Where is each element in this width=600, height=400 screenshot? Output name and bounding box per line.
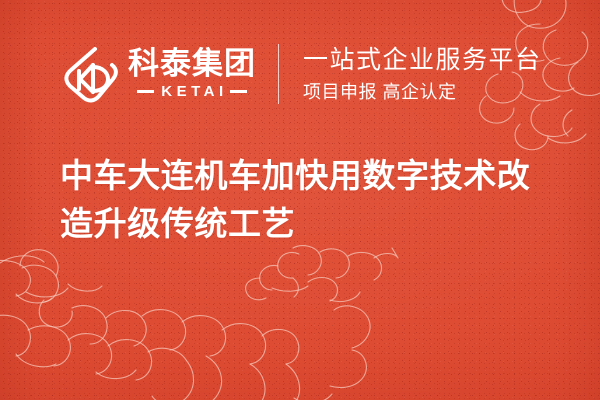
logo-dash-left-icon: [137, 90, 154, 93]
logo-wordmark: 科泰集团 KETAI: [128, 48, 256, 101]
brand-logo[interactable]: 科泰集团 KETAI: [62, 45, 256, 103]
page-title: 中车大连机车加快用数字技术改造升级传统工艺: [60, 152, 560, 248]
tagline-secondary: 项目申报 高企认定: [303, 82, 542, 103]
logo-name-cn: 科泰集团: [128, 48, 256, 81]
header-divider: [278, 44, 279, 104]
promo-banner: 科泰集团 KETAI 一站式企业服务平台 项目申报 高企认定 中车大连机车加快用…: [0, 0, 600, 400]
logo-name-en-text: KETAI: [161, 83, 227, 100]
brand-tagline: 一站式企业服务平台 项目申报 高企认定: [303, 46, 542, 102]
ketai-diamond-monogram-icon: [62, 45, 118, 103]
logo-dash-right-icon: [230, 90, 247, 93]
banner-header: 科泰集团 KETAI 一站式企业服务平台 项目申报 高企认定: [0, 34, 600, 114]
logo-name-en: KETAI: [128, 83, 256, 100]
tagline-primary: 一站式企业服务平台: [303, 46, 542, 75]
